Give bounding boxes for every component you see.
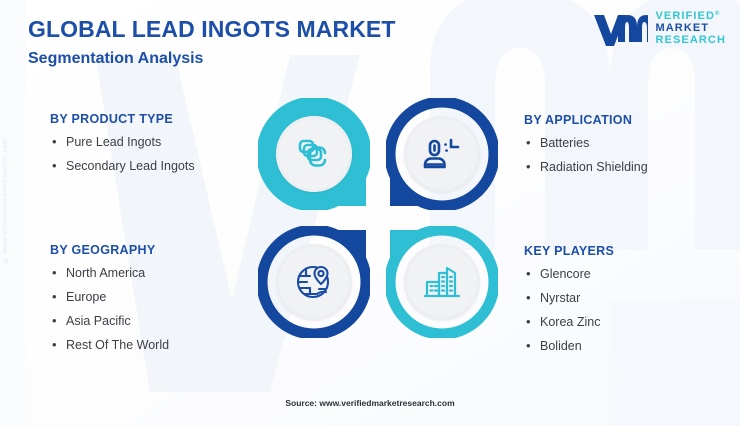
segment-list-geography: North America Europe Asia Pacific Rest O… [50,266,169,352]
list-item: Batteries [524,136,648,150]
segment-list-application: Batteries Radiation Shielding [524,136,648,174]
globe-location-pin-icon [293,261,335,303]
list-item: Pure Lead Ingots [50,135,195,149]
logo-line-research: RESEARCH [655,35,726,47]
page-subtitle: Segmentation Analysis [28,50,203,68]
list-item: Nyrstar [524,291,614,305]
list-item: Europe [50,290,169,304]
person-battery-icon [421,134,463,174]
quadrant-icon-disc [404,116,480,192]
list-item: North America [50,266,169,280]
list-item: Secondary Lead Ingots [50,159,195,173]
segment-application: BY APPLICATION Batteries Radiation Shiel… [524,113,648,184]
brand-logo: VERIFIED MARKET RESEARCH [592,10,726,48]
quadrant-icon-disc [276,244,352,320]
list-item: Korea Zinc [524,315,614,329]
segment-list-product-type: Pure Lead Ingots Secondary Lead Ingots [50,135,195,173]
segment-title-key-players: KEY PLAYERS [524,244,614,258]
page-header: GLOBAL LEAD INGOTS MARKET Segmentation A… [0,0,740,80]
segmentation-quadrant-graphic [258,98,498,338]
quadrant-icon-disc [404,244,480,320]
segment-title-application: BY APPLICATION [524,113,648,127]
source-footer: Source: www.verifiedmarketresearch.com [0,398,740,408]
segment-geography: BY GEOGRAPHY North America Europe Asia P… [50,243,169,362]
quadrant-key-players [386,226,498,338]
segment-product-type: BY PRODUCT TYPE Pure Lead Ingots Seconda… [50,112,195,183]
quadrant-geography [258,226,370,338]
edge-copyright-text: © www.verifiedmarketresearch.com [2,138,16,263]
quadrant-application [386,98,498,210]
segment-list-key-players: Glencore Nyrstar Korea Zinc Boliden [524,267,614,353]
quadrant-icon-disc [276,116,352,192]
vmr-monogram-icon [592,10,648,48]
city-buildings-icon [421,262,463,302]
list-item: Rest Of The World [50,338,169,352]
list-item: Glencore [524,267,614,281]
quadrant-product-type [258,98,370,210]
page-title: GLOBAL LEAD INGOTS MARKET [28,16,396,43]
list-item: Asia Pacific [50,314,169,328]
segment-title-product-type: BY PRODUCT TYPE [50,112,195,126]
segment-key-players: KEY PLAYERS Glencore Nyrstar Korea Zinc … [524,244,614,363]
list-item: Radiation Shielding [524,160,648,174]
segment-title-geography: BY GEOGRAPHY [50,243,169,257]
logo-line-verified: VERIFIED [655,11,726,23]
list-item: Boliden [524,339,614,353]
lead-ingot-stack-icon [294,134,334,174]
